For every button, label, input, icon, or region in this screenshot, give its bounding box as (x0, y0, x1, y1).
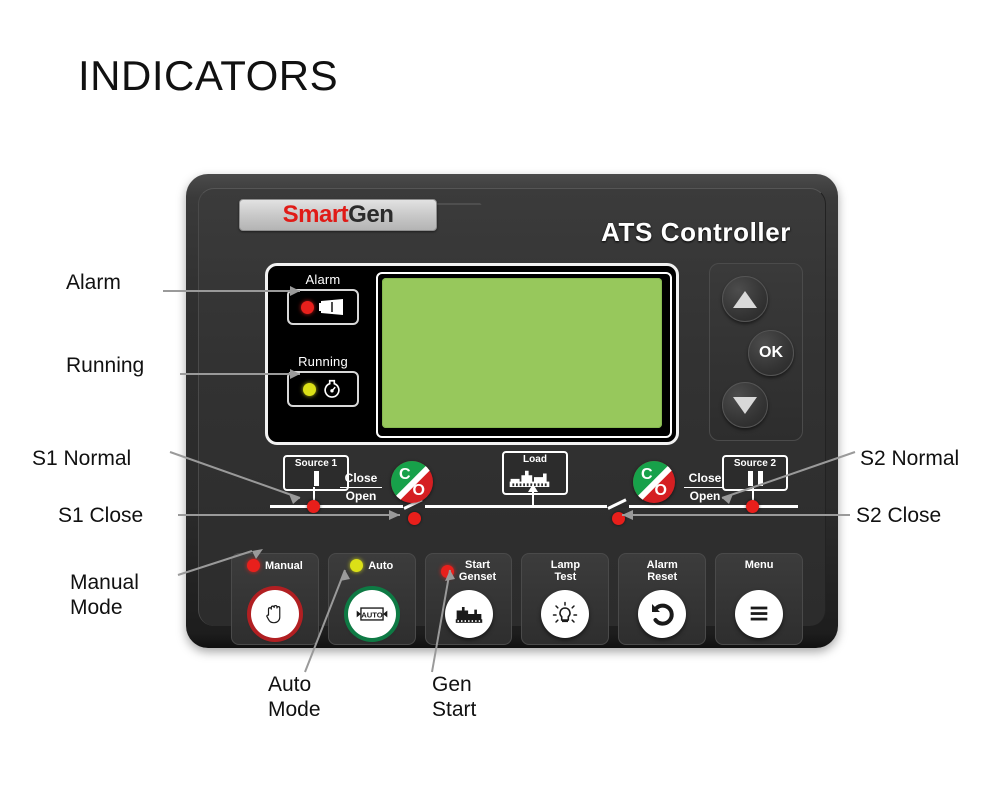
bus-line (270, 505, 798, 508)
node-s2-normal[interactable] (746, 500, 759, 513)
node-s1-close[interactable] (408, 512, 421, 525)
key-auto[interactable]: Auto AUTO (328, 553, 416, 645)
breaker1-close-label: Close (340, 471, 382, 486)
lcd-screen (382, 278, 662, 428)
start-genset-led (441, 565, 454, 578)
alarm-led (301, 301, 314, 314)
indicator-running-label: Running (278, 354, 368, 369)
auto-button[interactable]: AUTO (348, 590, 396, 638)
lamp-test-button[interactable] (541, 590, 589, 638)
indicator-alarm: Alarm (278, 272, 368, 325)
breaker2-close-label: Close (684, 471, 726, 486)
annotation-s1-normal: S1 Normal (32, 446, 131, 471)
ok-button-label: OK (759, 344, 783, 362)
key-test-label: Test (554, 571, 576, 583)
key-menu[interactable]: Menu (715, 553, 803, 645)
model-title: ATS Controller (601, 217, 791, 248)
key-genset-label: Genset (459, 571, 496, 583)
engine-icon (321, 378, 343, 400)
device-faceplate: SmartGen ATS Controller Alarm (198, 188, 826, 626)
key-start-genset-head: Start Genset (426, 559, 512, 583)
key-lamp-test-head: Lamp Test (522, 559, 608, 583)
annotation-running: Running (66, 353, 144, 378)
annotation-s2-close: S2 Close (856, 503, 941, 528)
bulb-icon (552, 601, 578, 627)
breaker1-co-indicator[interactable]: C O (391, 461, 433, 503)
indicator-running: Running (278, 354, 368, 407)
single-line-diagram: Source 1 Close Open C O Load (255, 451, 811, 541)
auto-led (350, 559, 363, 572)
key-menu-label: Menu (745, 559, 774, 571)
load-label: Load (504, 454, 566, 465)
annotation-gen-start: Gen Start (432, 672, 476, 722)
breaker1-c-letter: C (399, 466, 411, 484)
key-manual-head: Manual (232, 559, 318, 572)
function-key-row: Manual Auto AUTO (231, 553, 803, 645)
alarm-reset-button[interactable] (638, 590, 686, 638)
annotation-s2-normal: S2 Normal (860, 446, 959, 471)
navigation-keypad: OK (709, 263, 803, 441)
key-lamp-test[interactable]: Lamp Test (521, 553, 609, 645)
annotation-s1-close: S1 Close (58, 503, 143, 528)
key-manual[interactable]: Manual (231, 553, 319, 645)
horn-icon (319, 298, 345, 316)
undo-icon (649, 601, 675, 627)
source2-box: Source 2 (722, 455, 788, 491)
key-menu-head: Menu (716, 559, 802, 571)
key-start-genset[interactable]: Start Genset (425, 553, 513, 645)
indicator-running-box (287, 371, 359, 407)
manual-led (247, 559, 260, 572)
auto-icon: AUTO (355, 604, 389, 624)
svg-text:AUTO: AUTO (361, 610, 383, 619)
annotation-auto-mode: Auto Mode (268, 672, 321, 722)
breaker1-open-label: Open (340, 489, 382, 504)
load-feed-arrow (532, 491, 534, 507)
indicator-alarm-label: Alarm (278, 272, 368, 287)
indicator-alarm-box (287, 289, 359, 325)
key-alarm-label: Alarm (647, 559, 678, 571)
key-start-label: Start (465, 559, 490, 571)
key-manual-label: Manual (265, 560, 303, 572)
source1-label: Source 1 (285, 458, 347, 469)
key-alarm-reset[interactable]: Alarm Reset (618, 553, 706, 645)
indicator-column: Alarm Running (278, 272, 368, 432)
breaker2-co-indicator[interactable]: C O (633, 461, 675, 503)
chevron-up-icon (733, 291, 757, 308)
node-s2-close[interactable] (612, 512, 625, 525)
brand-smart-text: Smart (283, 201, 349, 228)
start-genset-button[interactable] (445, 590, 493, 638)
breaker2-state-label: Close Open (684, 471, 726, 504)
node-s1-normal[interactable] (307, 500, 320, 513)
down-button[interactable] (722, 382, 768, 428)
up-button[interactable] (722, 276, 768, 322)
breaker2-open-label: Open (684, 489, 726, 504)
annotation-manual-mode: Manual Mode (70, 570, 139, 620)
key-auto-head: Auto (329, 559, 415, 572)
ok-button[interactable]: OK (748, 330, 794, 376)
source2-label: Source 2 (724, 458, 786, 469)
ats-controller-device: SmartGen ATS Controller Alarm (186, 174, 838, 648)
menu-button[interactable] (735, 590, 783, 638)
brand-gen-text: Gen (348, 201, 393, 228)
key-auto-label: Auto (368, 560, 393, 572)
hand-icon (262, 601, 288, 627)
key-lamp-label: Lamp (551, 559, 580, 571)
manual-button[interactable] (251, 590, 299, 638)
genset-icon (454, 603, 484, 625)
breaker1-state-label: Close Open (340, 471, 382, 504)
page-title: INDICATORS (78, 52, 338, 100)
key-reset-label: Reset (647, 571, 677, 583)
running-led (303, 383, 316, 396)
annotation-alarm: Alarm (66, 270, 121, 295)
source1-bars (285, 471, 347, 486)
chevron-down-icon (733, 397, 757, 414)
key-alarm-reset-head: Alarm Reset (619, 559, 705, 583)
display-block: Alarm Running (265, 263, 679, 445)
menu-icon (747, 602, 771, 626)
breaker2-c-letter: C (641, 466, 653, 484)
brand-logo-plate: SmartGen (239, 199, 437, 231)
source2-bars (724, 471, 786, 486)
breaker1-o-letter: O (413, 482, 425, 500)
breaker2-o-letter: O (655, 482, 667, 500)
